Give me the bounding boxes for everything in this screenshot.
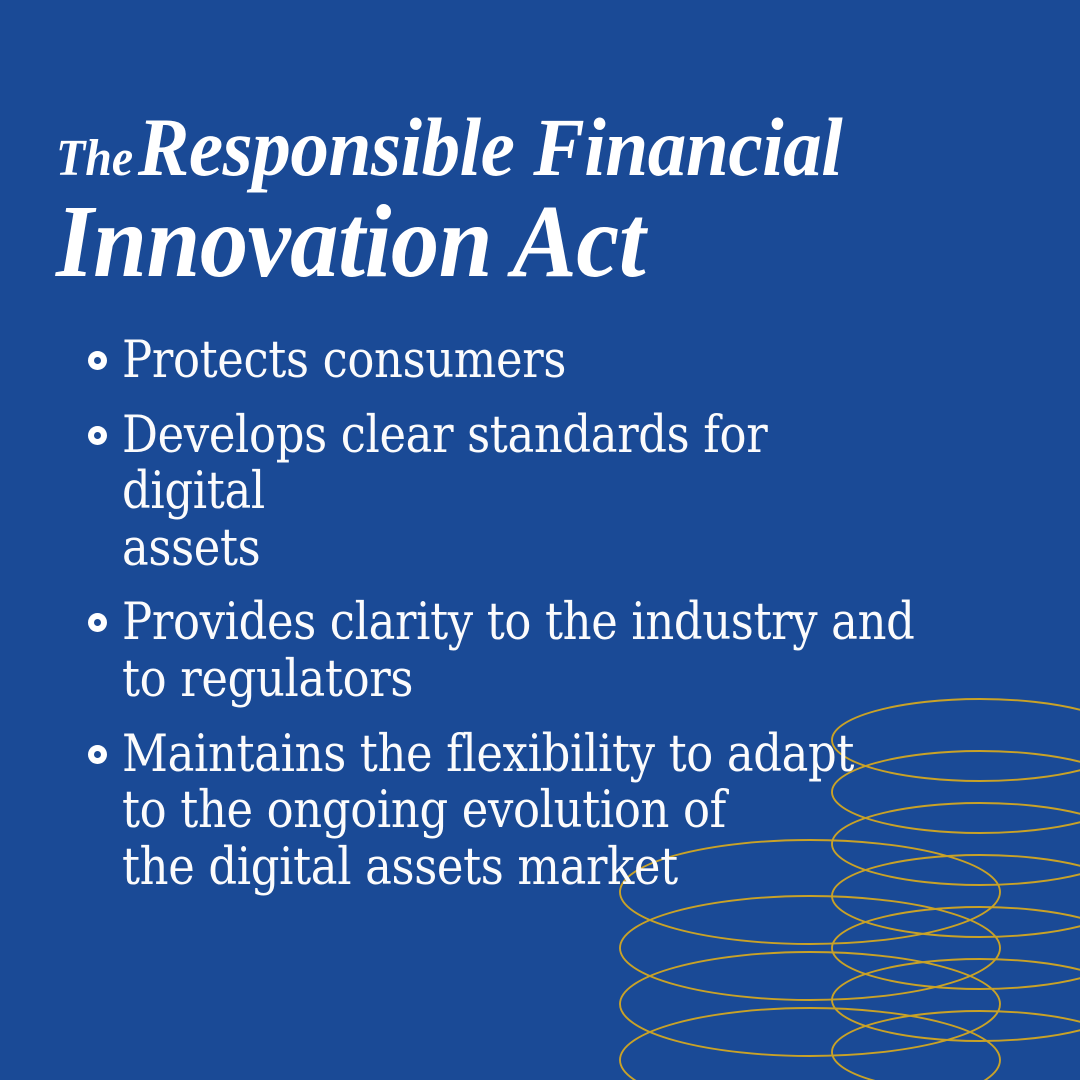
title-line-2: Innovation Act (56, 191, 967, 293)
ring-bullet-icon (88, 351, 107, 370)
list-item-label: Protects consumers (122, 333, 919, 390)
ring-bullet-icon (88, 613, 107, 632)
list-item: Maintains the flexibility to adapt to th… (88, 727, 1028, 897)
social-card: TheResponsible Financial Innovation Act … (0, 0, 1080, 1080)
list-item: Provides clarity to the industry and to … (88, 595, 1028, 708)
list-item-label: Develops clear standards for digital ass… (122, 408, 919, 578)
list-item: Develops clear standards for digital ass… (88, 408, 1028, 578)
title-prefix-the: The (56, 130, 133, 187)
benefits-list: Protects consumers Develops clear standa… (88, 333, 1028, 914)
ring-bullet-icon (88, 745, 107, 764)
list-item-label: Provides clarity to the industry and to … (122, 595, 919, 708)
title-line-1-main: Responsible Financial (138, 101, 842, 193)
list-item: Protects consumers (88, 333, 1028, 390)
ring-bullet-icon (88, 426, 107, 445)
title-block: TheResponsible Financial Innovation Act (56, 108, 1036, 293)
title-line-1: TheResponsible Financial (56, 108, 967, 187)
list-item-label: Maintains the flexibility to adapt to th… (122, 727, 919, 897)
